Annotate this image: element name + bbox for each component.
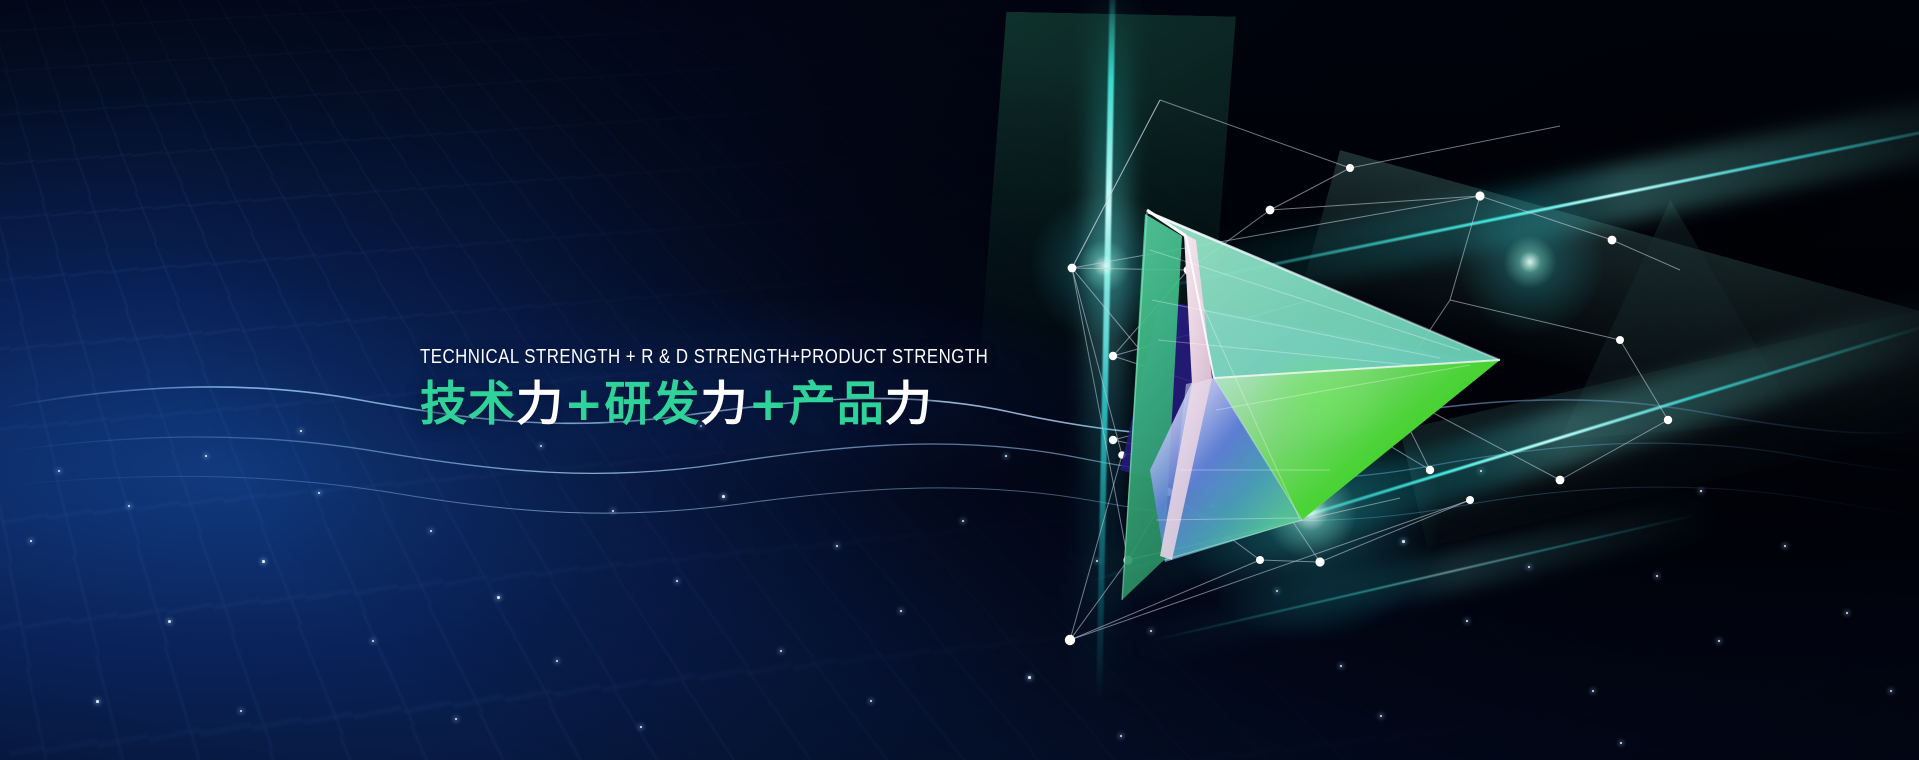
headline-seg-plus-1: + <box>564 377 604 432</box>
headline-seg-li-1: 力 <box>516 377 564 432</box>
eyebrow-english-tagline: TECHNICAL STRENGTH + R & D STRENGTH+PROD… <box>420 344 945 370</box>
headline-seg-li-3: 力 <box>885 377 933 432</box>
headline-seg-chanpin: 产品 <box>789 377 885 432</box>
headline-seg-jishu: 技术 <box>420 377 516 432</box>
background-dark-top <box>0 0 1919 300</box>
headline-seg-li-2: 力 <box>700 377 748 432</box>
headline-seg-yanfa: 研发 <box>604 377 700 432</box>
headline-chinese: 技术力+研发力+产品力 <box>420 376 1060 434</box>
headline-seg-plus-2: + <box>748 377 788 432</box>
hero-copy: TECHNICAL STRENGTH + R & D STRENGTH+PROD… <box>420 344 1060 434</box>
hero-banner: TECHNICAL STRENGTH + R & D STRENGTH+PROD… <box>0 0 1919 760</box>
